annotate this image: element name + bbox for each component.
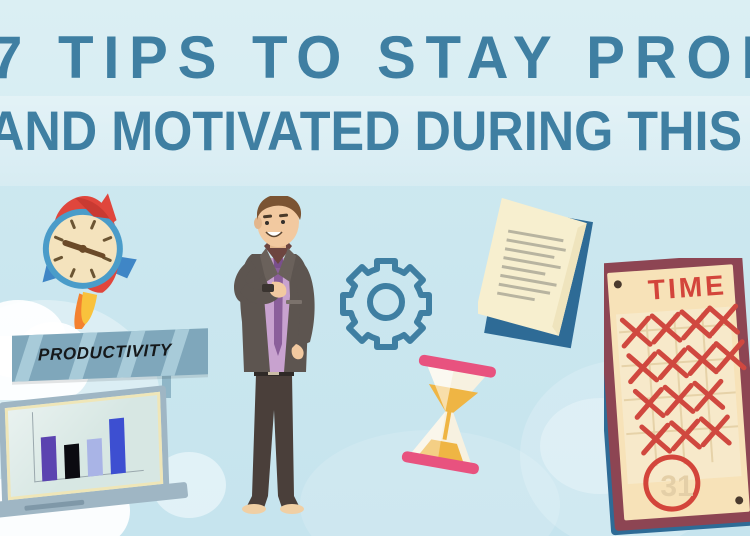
promo-banner: 7 TIPS TO STAY PRODUCTIVE AND MOTIVATED … <box>0 0 750 536</box>
bar-2 <box>64 444 80 480</box>
calendar-title: TIME <box>647 269 728 306</box>
bar-4 <box>109 418 126 475</box>
headline-line-2: AND MOTIVATED DURING THIS PANDEMIC <box>0 102 674 160</box>
rocket-clock-icon <box>20 193 148 329</box>
document-illustration <box>478 198 604 364</box>
businessman-illustration <box>216 196 336 522</box>
calendar-illustration: TIME 31 <box>604 258 750 536</box>
bar-3 <box>87 438 103 477</box>
laptop-trackpad <box>24 500 84 511</box>
bar-1 <box>41 436 57 482</box>
hourglass-illustration <box>386 346 511 483</box>
headline: 7 TIPS TO STAY PRODUCTIVE AND MOTIVATED … <box>0 28 750 160</box>
productivity-sign: PRODUCTIVITY <box>12 332 218 394</box>
gear-glyph <box>336 252 436 352</box>
headline-line-1: 7 TIPS TO STAY PRODUCTIVE <box>0 28 727 88</box>
laptop-display <box>5 392 163 500</box>
document-paper <box>478 198 604 364</box>
calendar-highlight-day: 31 <box>648 458 706 516</box>
hourglass-icon <box>386 346 511 483</box>
businessman-figure <box>216 196 336 522</box>
rocket-clock-illustration <box>20 193 148 329</box>
bar-chart <box>8 395 160 497</box>
gear-icon <box>336 252 436 352</box>
laptop-illustration <box>0 392 202 536</box>
